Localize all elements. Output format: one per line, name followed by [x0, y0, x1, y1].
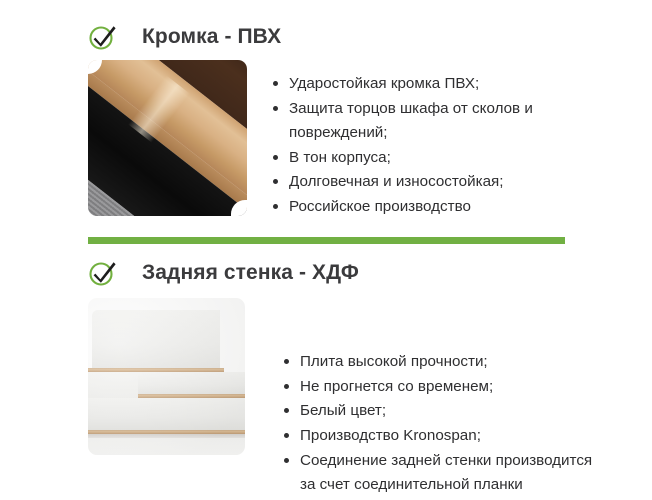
section-heading-edge-banding: Кромка - ПВХ	[88, 20, 281, 54]
list-item: Долговечная и износостойкая;	[272, 170, 602, 194]
panels-artwork	[88, 298, 245, 455]
hdf-panel-base	[88, 438, 245, 455]
green-check-circle-icon	[88, 22, 118, 52]
hdf-panel-top	[92, 310, 220, 368]
list-item: Не прогнется со временем;	[283, 375, 603, 399]
section-title-back-panel: Задняя стенка - ХДФ	[142, 258, 359, 288]
list-item: Защита торцов шкафа от сколов и поврежде…	[272, 97, 602, 145]
list-item: Соединение задней стенки производится за…	[283, 449, 603, 497]
feature-list-edge-banding: Ударостойкая кромка ПВХ; Защита торцов ш…	[272, 72, 602, 220]
list-item: Белый цвет;	[283, 399, 603, 423]
pvc-edge-banding-rolls-photo	[88, 60, 247, 216]
list-item: Плита высокой прочности;	[283, 350, 603, 374]
section-back-panel: Задняя стенка - ХДФ	[0, 248, 652, 500]
list-item: Ударостойкая кромка ПВХ;	[272, 72, 602, 96]
green-check-circle-icon	[88, 258, 118, 288]
hdf-back-panel-stack-photo	[88, 298, 245, 455]
banding-strips-group	[88, 60, 247, 216]
list-item: Производство Kronospan;	[283, 424, 603, 448]
section-title-edge-banding: Кромка - ПВХ	[142, 22, 281, 52]
section-heading-back-panel: Задняя стенка - ХДФ	[88, 256, 359, 290]
rolls-artwork	[88, 60, 247, 216]
hdf-panel-middle	[138, 372, 245, 394]
feature-list-page: Кромка - ПВХ	[0, 0, 652, 500]
feature-list-back-panel: Плита высокой прочности; Не прогнется со…	[283, 350, 603, 498]
list-item: Российское производство	[272, 195, 602, 219]
green-section-divider	[88, 237, 565, 244]
hdf-panel-bottom	[88, 398, 245, 430]
list-item: В тон корпуса;	[272, 146, 602, 170]
section-edge-banding: Кромка - ПВХ	[0, 0, 652, 232]
